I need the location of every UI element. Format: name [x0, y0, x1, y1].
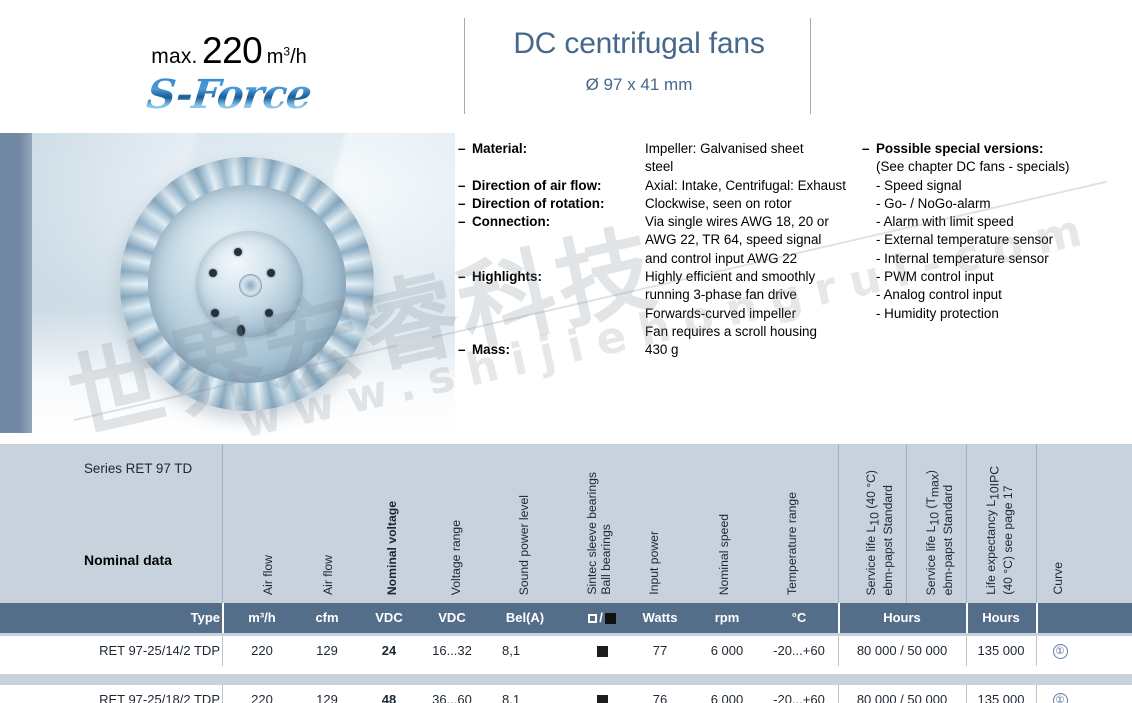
col-header-nominal-voltage: Nominal voltage [386, 501, 399, 595]
special-versions-title: Possible special versions: [876, 140, 1043, 158]
spec-value: Axial: Intake, Centrifugal: Exhaust [645, 177, 858, 195]
max-label: max. [151, 45, 197, 68]
spec-value-line: Highly efficient and smoothly [645, 268, 858, 286]
col-header-air-flow-m3h: Air flow [262, 555, 275, 595]
image-left-strip [0, 133, 32, 433]
brand-block: max. 220 m3/h S-Force [0, 10, 458, 125]
col-header-life-expectancy-line2: (40 °C) see page 17 [1001, 466, 1015, 595]
spec-dash: – [458, 140, 472, 158]
filled-square-icon [605, 613, 616, 624]
data-table: Series RET 97 TD Nominal data Air flow A… [0, 444, 1132, 703]
unit-voltage-range: VDC [422, 603, 482, 633]
cell-curve: ① [1040, 636, 1080, 666]
row-separator [966, 636, 967, 666]
special-versions-subtitle: (See chapter DC fans - specials) [862, 158, 1132, 176]
page-header: max. 220 m3/h S-Force DC centrifugal fan… [0, 0, 1132, 130]
row-separator [1036, 636, 1037, 666]
cell-service-life: 80 000 / 50 000 [842, 636, 962, 666]
list-item: - External temperature sensor [876, 231, 1132, 249]
header-vline [838, 444, 839, 603]
max-unit: m3/h [267, 46, 307, 68]
col-header-service-life-line1: Service life L10 (40 °C) [864, 470, 881, 595]
product-photo [32, 133, 455, 433]
table-row[interactable]: RET 97-25/18/2 TDP 220 129 48 36...60 8,… [0, 685, 1132, 703]
curve-number-icon: ① [1053, 644, 1068, 659]
spec-row-mass: – Mass: 430 g [458, 341, 858, 359]
hub-hole [237, 325, 245, 336]
header-vline [906, 444, 907, 603]
list-item: - Humidity protection [876, 305, 1132, 323]
list-item: - Internal temperature sensor [876, 250, 1132, 268]
open-square-icon [588, 614, 597, 623]
spec-value: Highly efficient and smoothly running 3-… [645, 268, 858, 341]
header-vline [222, 444, 223, 603]
product-image-panel [0, 133, 455, 433]
max-value: 220 [202, 30, 262, 71]
col-header-temperature-range: Temperature range [786, 492, 799, 595]
cell-voltage-range: 36...60 [422, 685, 482, 703]
unit-air-flow-m3h: m³/h [232, 603, 292, 633]
spec-value-line: 430 g [645, 341, 858, 359]
col-header-curve: Curve [1052, 562, 1065, 595]
cell-sound-power: 8,1 [488, 685, 562, 703]
page-title: DC centrifugal fans [470, 26, 808, 62]
col-header-voltage-range: Voltage range [450, 520, 463, 595]
row-separator [1036, 685, 1037, 703]
cell-input-power: 77 [628, 636, 692, 666]
unit-bearings: / [572, 603, 632, 633]
cell-type: RET 97-25/14/2 TDP [70, 636, 220, 666]
specifications-list: – Material: Impeller: Galvanised sheet s… [458, 140, 858, 360]
col-header-nominal-speed: Nominal speed [718, 514, 731, 595]
unit-sound-power: Bel(A) [488, 603, 562, 633]
s-force-logo: S-Force [145, 71, 314, 118]
table-nominal-data-label: Nominal data [84, 552, 172, 568]
spec-row-material: – Material: Impeller: Galvanised sheet s… [458, 140, 858, 177]
table-units-row: Type m³/h cfm VDC VDC Bel(A) / Watts rpm… [0, 603, 1132, 633]
impeller-graphic [120, 157, 374, 411]
spec-row-direction-of-rotation: – Direction of rotation: Clockwise, seen… [458, 195, 858, 213]
col-header-life-expectancy-line1: Life expectancy L10IPC [984, 466, 1001, 595]
cell-bearings [572, 685, 632, 703]
spec-label: Highlights: [472, 268, 645, 286]
spec-value: Via single wires AWG 18, 20 or AWG 22, T… [645, 213, 858, 268]
col-header-ball-bearings: Ball bearings [599, 472, 613, 595]
title-block: DC centrifugal fans Ø 97 x 41 mm [470, 26, 808, 97]
row-separator [222, 636, 223, 666]
spec-dash: – [458, 268, 472, 286]
unit-nominal-voltage: VDC [360, 603, 418, 633]
list-item: - Analog control input [876, 286, 1132, 304]
header-divider-left [464, 18, 465, 114]
spec-row-direction-of-air-flow: – Direction of air flow: Axial: Intake, … [458, 177, 858, 195]
list-item: - Speed signal [876, 177, 1132, 195]
unit-service-life: Hours [842, 603, 962, 633]
cell-type: RET 97-25/18/2 TDP [70, 685, 220, 703]
table-series-label: Series RET 97 TD [84, 461, 192, 476]
spec-value-line: and control input AWG 22 [645, 250, 858, 268]
hub-hole [209, 269, 217, 277]
col-header-sintec-sleeve-bearings: Sintec sleeve bearings [585, 472, 599, 595]
unit-temperature: °C [764, 603, 834, 633]
list-item: - Alarm with limit speed [876, 213, 1132, 231]
row-gap [0, 674, 1132, 685]
col-header-service-life-line2: ebm-papst Standard [881, 470, 895, 595]
unit-nominal-speed: rpm [696, 603, 758, 633]
impeller-shaft [239, 274, 262, 297]
cell-nominal-voltage: 24 [360, 636, 418, 666]
spec-dash: – [458, 341, 472, 359]
cell-service-life: 80 000 / 50 000 [842, 685, 962, 703]
special-versions-items: - Speed signal - Go- / NoGo-alarm - Alar… [862, 177, 1132, 323]
col-header-bearings: Sintec sleeve bearings Ball bearings [585, 472, 613, 595]
col-header-sound-power-level: Sound power level [518, 495, 531, 595]
cell-nominal-speed: 6 000 [696, 685, 758, 703]
unit-curve [1040, 603, 1120, 633]
col-header-service-life-40c: Service life L10 (40 °C) ebm-papst Stand… [864, 470, 895, 595]
col-header-service-life-tmax-line2: ebm-papst Standard [941, 470, 955, 595]
unit-life-expectancy: Hours [970, 603, 1032, 633]
spec-value-line: Via single wires AWG 18, 20 or [645, 213, 858, 231]
spec-label: Direction of air flow: [472, 177, 645, 195]
spec-value-line: Fan requires a scroll housing [645, 323, 858, 341]
col-header-life-expectancy: Life expectancy L10IPC (40 °C) see page … [984, 466, 1015, 595]
header-divider-right [810, 18, 811, 114]
unit-air-flow-cfm: cfm [298, 603, 356, 633]
spec-value: Clockwise, seen on rotor [645, 195, 858, 213]
row-separator [838, 636, 839, 666]
spec-row-connection: – Connection: Via single wires AWG 18, 2… [458, 213, 858, 268]
cell-voltage-range: 16...32 [422, 636, 482, 666]
cell-nominal-speed: 6 000 [696, 636, 758, 666]
table-row[interactable]: RET 97-25/14/2 TDP 220 129 24 16...32 8,… [0, 636, 1132, 666]
unit-type: Type [70, 603, 220, 633]
spec-value: 430 g [645, 341, 858, 359]
spec-value-line: Impeller: Galvanised sheet [645, 140, 858, 158]
datasheet-page: max. 220 m3/h S-Force DC centrifugal fan… [0, 0, 1132, 703]
spec-value-line: Axial: Intake, Centrifugal: Exhaust [645, 177, 858, 195]
spec-value-line: running 3-phase fan drive [645, 286, 858, 304]
cell-temperature: -20...+60 [764, 636, 834, 666]
unit-input-power: Watts [628, 603, 692, 633]
special-versions-heading: – Possible special versions: [862, 140, 1132, 158]
units-separator [222, 603, 224, 633]
cell-air-flow-m3h: 220 [232, 636, 292, 666]
curve-number-icon: ① [1053, 693, 1068, 703]
cell-life-expectancy: 135 000 [970, 636, 1032, 666]
spec-label: Connection: [472, 213, 645, 231]
cell-air-flow-cfm: 129 [298, 685, 356, 703]
spec-value-line: Forwards-curved impeller [645, 305, 858, 323]
col-header-air-flow-cfm: Air flow [322, 555, 335, 595]
spec-value-line: Clockwise, seen on rotor [645, 195, 858, 213]
row-separator [838, 685, 839, 703]
cell-air-flow-cfm: 129 [298, 636, 356, 666]
units-separator [966, 603, 968, 633]
spec-label: Mass: [472, 341, 645, 359]
spec-dash: – [458, 177, 472, 195]
spec-dash: – [458, 213, 472, 231]
filled-square-icon [597, 646, 608, 657]
cell-input-power: 76 [628, 685, 692, 703]
units-separator [838, 603, 840, 633]
table-header-band: Series RET 97 TD Nominal data Air flow A… [0, 444, 1132, 603]
cell-air-flow-m3h: 220 [232, 685, 292, 703]
spec-value-line: steel [645, 158, 858, 176]
col-header-input-power: Input power [648, 531, 661, 595]
cell-sound-power: 8,1 [488, 636, 562, 666]
spec-dash: – [458, 195, 472, 213]
special-versions-block: – Possible special versions: (See chapte… [862, 140, 1132, 323]
max-airflow-line: max. 220 m3/h [0, 10, 458, 69]
units-separator [1036, 603, 1038, 633]
cell-bearings [572, 636, 632, 666]
row-separator [222, 685, 223, 703]
special-dash: – [862, 140, 876, 158]
col-header-service-life-tmax: Service life L10 (Tmax) ebm-papst Standa… [924, 470, 955, 595]
spec-value: Impeller: Galvanised sheet steel [645, 140, 858, 177]
spec-value-line: AWG 22, TR 64, speed signal [645, 231, 858, 249]
header-vline [966, 444, 967, 603]
cell-temperature: -20...+60 [764, 685, 834, 703]
spec-row-highlights: – Highlights: Highly efficient and smoot… [458, 268, 858, 341]
list-item: - PWM control input [876, 268, 1132, 286]
spec-label: Direction of rotation: [472, 195, 645, 213]
row-separator [966, 685, 967, 703]
cell-nominal-voltage: 48 [360, 685, 418, 703]
col-header-service-life-tmax-line1: Service life L10 (Tmax) [924, 470, 941, 595]
cell-curve: ① [1040, 685, 1080, 703]
filled-square-icon [597, 695, 608, 703]
header-vline [1036, 444, 1037, 603]
spec-label: Material: [472, 140, 645, 158]
list-item: - Go- / NoGo-alarm [876, 195, 1132, 213]
page-subtitle: Ø 97 x 41 mm [470, 73, 808, 97]
cell-life-expectancy: 135 000 [970, 685, 1032, 703]
